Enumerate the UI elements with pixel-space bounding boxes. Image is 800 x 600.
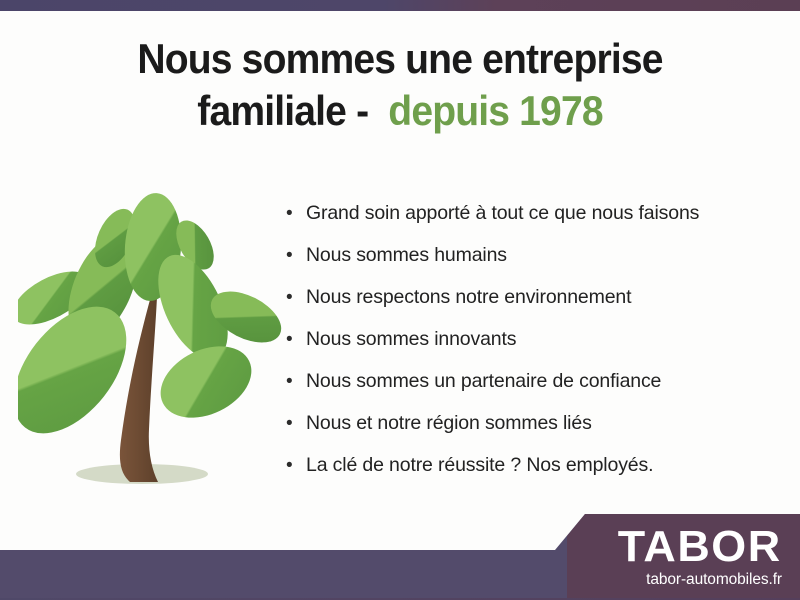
bullet-marker-icon: • <box>286 445 306 487</box>
logo-wordmark: TABOR <box>618 524 782 570</box>
bullet-marker-icon: • <box>286 361 306 403</box>
list-item: • Nous sommes un partenaire de confiance <box>286 360 699 402</box>
list-item: • Nous sommes humains <box>286 234 699 276</box>
list-item-label: Nous et notre région sommes liés <box>306 402 592 444</box>
bullet-marker-icon: • <box>286 277 306 319</box>
bullet-marker-icon: • <box>286 403 306 445</box>
list-item: • Nous sommes innovants <box>286 318 699 360</box>
footer-banner: TABOR tabor-automobiles.fr <box>0 504 800 600</box>
tree-svg <box>18 182 286 494</box>
slide-canvas: Nous sommes une entreprise familiale - d… <box>0 0 800 600</box>
title-dash <box>346 87 356 134</box>
list-item-label: Nous sommes un partenaire de confiance <box>306 360 661 402</box>
list-item: • Nous et notre région sommes liés <box>286 402 699 444</box>
bullet-marker-icon: • <box>286 235 306 277</box>
title-line-2-plain: familiale <box>197 87 346 134</box>
list-item-label: Nous sommes innovants <box>306 318 516 360</box>
page-title: Nous sommes une entreprise familiale - d… <box>0 33 800 137</box>
list-item: • La clé de notre réussite ? Nos employé… <box>286 444 699 486</box>
title-gap <box>368 87 388 134</box>
brand-logo[interactable]: TABOR tabor-automobiles.fr <box>621 524 782 590</box>
list-item: • Nous respectons notre environnement <box>286 276 699 318</box>
list-item-label: Nous sommes humains <box>306 234 507 276</box>
title-dash-glyph: - <box>356 87 368 134</box>
logo-website-url: tabor-automobiles.fr <box>621 570 782 590</box>
list-item-label: Nous respectons notre environnement <box>306 276 631 318</box>
tree-illustration <box>18 182 286 494</box>
list-item: • Grand soin apporté à tout ce que nous … <box>286 192 699 234</box>
letterbox-top-band <box>0 0 800 11</box>
bullet-list: • Grand soin apporté à tout ce que nous … <box>286 192 699 486</box>
bullet-marker-icon: • <box>286 193 306 235</box>
tree-trunk <box>120 296 158 482</box>
list-item-label: Grand soin apporté à tout ce que nous fa… <box>306 192 699 234</box>
title-accent-text: depuis 1978 <box>388 87 602 134</box>
title-line-2: familiale - depuis 1978 <box>28 85 772 137</box>
title-line-1: Nous sommes une entreprise <box>28 33 772 85</box>
list-item-label: La clé de notre réussite ? Nos employés. <box>306 444 653 486</box>
bullet-marker-icon: • <box>286 319 306 361</box>
